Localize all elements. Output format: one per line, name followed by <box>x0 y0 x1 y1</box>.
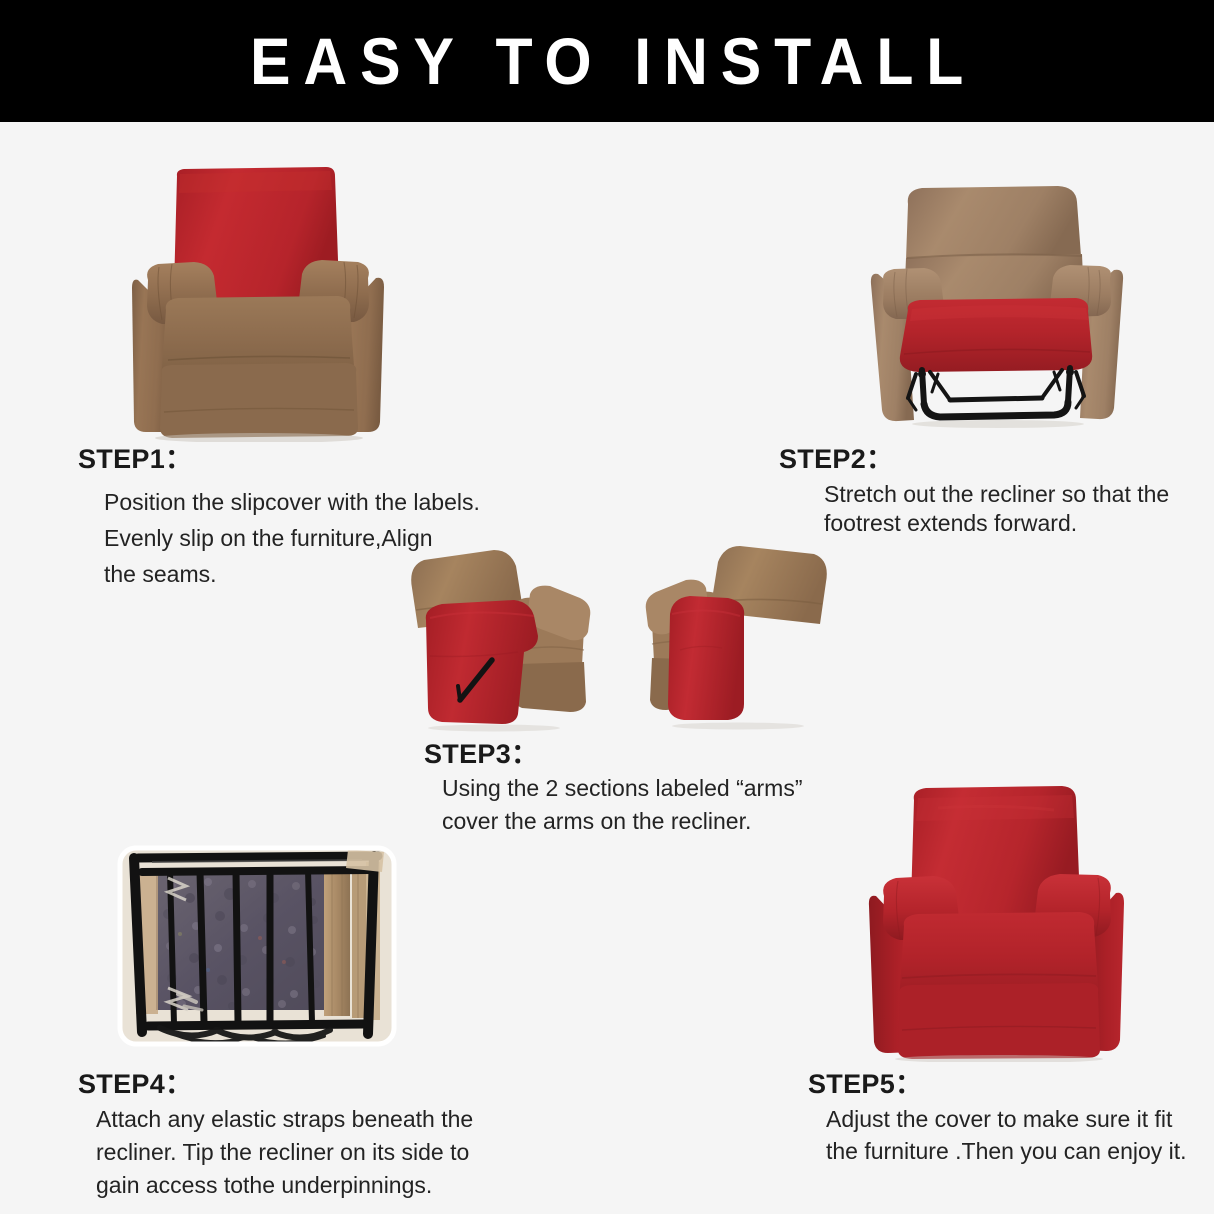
step2-figure-recliner-footrest-extended <box>862 178 1164 450</box>
step2-body: Stretch out the recliner so that the foo… <box>824 480 1169 538</box>
step5-figure-recliner-fully-covered <box>858 778 1144 1062</box>
step2-label: STEP2： <box>779 437 893 476</box>
header-banner: EASY TO INSTALL <box>0 0 1214 122</box>
step4-body: Attach any elastic straps beneath the re… <box>96 1103 473 1202</box>
step4-label: STEP4： <box>78 1062 192 1101</box>
infographic-page: EASY TO INSTALL <box>0 0 1214 1214</box>
page-title: EASY TO INSTALL <box>237 28 976 94</box>
step4-figure-recliner-underside <box>112 842 402 1050</box>
step1-label: STEP1： <box>78 437 192 476</box>
step3-label: STEP3： <box>424 732 538 771</box>
step3-body: Using the 2 sections labeled “arms” cove… <box>442 772 803 838</box>
step3-figure-right-chair-arm-covered <box>618 532 840 732</box>
step5-label: STEP5： <box>808 1062 922 1101</box>
step1-body: Position the slipcover with the labels. … <box>104 484 480 592</box>
step5-body: Adjust the cover to make sure it fit the… <box>826 1103 1187 1167</box>
step1-figure-recliner-back-covered <box>118 160 400 442</box>
